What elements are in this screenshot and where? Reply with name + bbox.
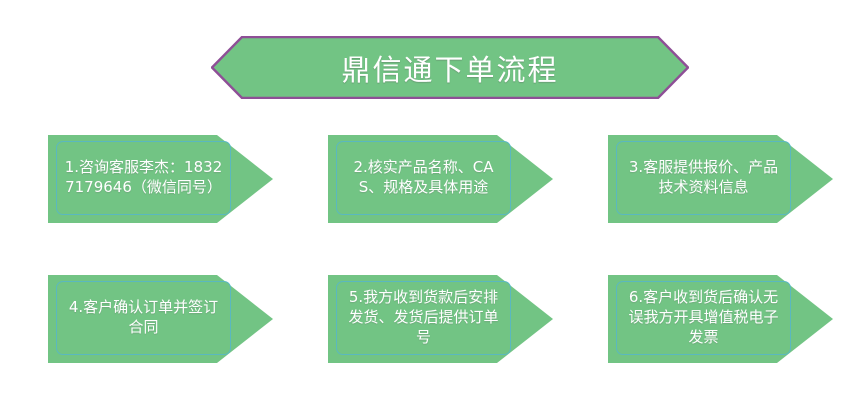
- step-label-box: 3.客服提供报价、产品技术资料信息: [616, 141, 791, 215]
- process-step-4[interactable]: 4.客户确认订单并签订合同: [48, 275, 273, 363]
- process-step-1[interactable]: 1.咨询客服李杰：18327179646（微信同号）: [48, 135, 273, 223]
- step-text: 5.我方收到货款后安排发货、发货后提供订单号: [342, 288, 505, 347]
- process-step-5[interactable]: 5.我方收到货款后安排发货、发货后提供订单号: [328, 275, 553, 363]
- flowchart-title-banner: 鼎信通下单流程: [211, 36, 689, 99]
- process-step-2[interactable]: 2.核实产品名称、CAS、规格及具体用途: [328, 135, 553, 223]
- step-text: 4.客户确认订单并签订合同: [62, 298, 225, 338]
- step-label-box: 1.咨询客服李杰：18327179646（微信同号）: [56, 141, 231, 215]
- step-text: 2.核实产品名称、CAS、规格及具体用途: [342, 158, 505, 198]
- step-label-box: 5.我方收到货款后安排发货、发货后提供订单号: [336, 281, 511, 355]
- step-label-box: 2.核实产品名称、CAS、规格及具体用途: [336, 141, 511, 215]
- banner-hexagon-shape: [211, 36, 689, 99]
- step-text: 1.咨询客服李杰：18327179646（微信同号）: [62, 158, 225, 198]
- step-text: 6.客户收到货后确认无误我方开具增值税电子发票: [622, 288, 785, 347]
- step-label-box: 4.客户确认订单并签订合同: [56, 281, 231, 355]
- process-step-6[interactable]: 6.客户收到货后确认无误我方开具增值税电子发票: [608, 275, 833, 363]
- flowchart-canvas: 鼎信通下单流程 1.咨询客服李杰：18327179646（微信同号） 2.核实产…: [0, 0, 865, 417]
- step-text: 3.客服提供报价、产品技术资料信息: [622, 158, 785, 198]
- step-label-box: 6.客户收到货后确认无误我方开具增值税电子发票: [616, 281, 791, 355]
- process-step-3[interactable]: 3.客服提供报价、产品技术资料信息: [608, 135, 833, 223]
